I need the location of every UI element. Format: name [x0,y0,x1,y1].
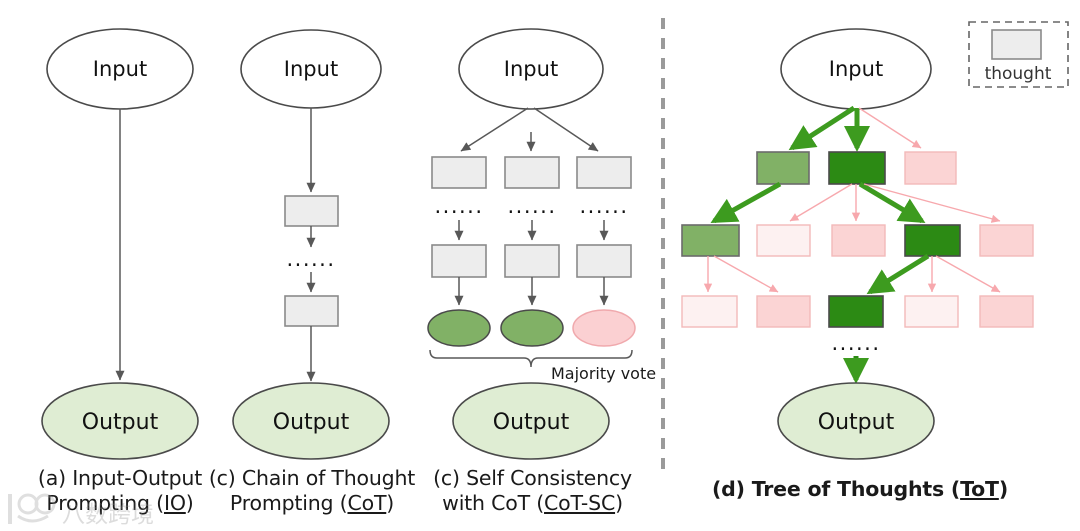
tot-node-l3-4[interactable] [905,296,958,327]
caption-tot-post: ) [999,477,1008,501]
tot-node-l3-3[interactable] [829,296,883,327]
thought-legend: thought [969,22,1068,87]
caption-tot-pre: (d) Tree of Thoughts ( [712,477,960,501]
tot-edge-l2d-l3e [936,256,1000,292]
tot-edge-l1a-l2a [714,184,780,221]
caption-cot-abbr: CoT [347,491,386,515]
tot-output-label: Output [818,410,895,435]
sc-ellipsis-2: ...... [507,194,556,218]
tot-edge-l1b-l2b [790,184,852,221]
legend-thought-label: thought [985,64,1052,84]
caption-tot-line1: (d) Tree of Thoughts (ToT) [700,477,1020,502]
caption-sc-line1: (c) Self Consistency [425,466,640,491]
tot-node-l2-2[interactable] [757,225,810,256]
tot-node-l3-2[interactable] [757,296,810,327]
caption-sc-line2-post: ) [615,491,623,515]
tot-node-l3-1[interactable] [682,296,737,327]
sc-arrow-branch-left [461,108,528,151]
tot-node-l1-1[interactable] [757,152,809,184]
caption-io-line1: (a) Input-Output [20,466,220,491]
sc-output-label: Output [493,410,570,435]
caption-cot-line2-pre: Prompting ( [230,491,348,515]
tot-node-l1-3[interactable] [905,152,956,184]
tot-edge-l2a-l3b [714,256,778,292]
sc-result-node-2[interactable] [501,310,563,346]
cot-thought-box-1[interactable] [285,196,338,226]
io-output-label: Output [82,410,159,435]
caption-io-line2: Prompting (IO) [20,491,220,516]
sc-result-node-3[interactable] [573,310,635,346]
figure-root: Input Output Input ...... Output Input .… [0,0,1080,531]
panel-cot: Input ...... Output [233,30,389,459]
cot-input-label: Input [284,57,338,81]
caption-sc-line2: with CoT (CoT-SC) [425,491,640,516]
diagram-canvas: Input Output Input ...... Output Input .… [0,0,1080,531]
tot-node-l2-5[interactable] [980,225,1033,256]
caption-cot-line2: Prompting (CoT) [208,491,416,516]
caption-cot: (c) Chain of Thought Prompting (CoT) [208,466,416,516]
tot-edge-l1b-l2d [860,184,922,221]
caption-io-line2-post: ) [186,491,194,515]
caption-io-line2-pre: Prompting ( [46,491,164,515]
sc-majority-vote-label: Majority vote [551,364,656,383]
caption-io: (a) Input-Output Prompting (IO) [20,466,220,516]
tot-node-l2-3[interactable] [832,225,885,256]
sc-input-label: Input [504,57,558,81]
legend-thought-swatch [992,30,1041,59]
tot-edge-l2d-l3c [870,256,928,292]
panel-tot: Input ...... [682,29,1033,459]
caption-sc-abbr: CoT-SC [544,491,615,515]
caption-cot-line1: (c) Chain of Thought [208,466,416,491]
tot-node-l3-5[interactable] [980,296,1033,327]
tot-ellipsis: ...... [831,331,880,355]
sc-thought-box-2-1[interactable] [505,157,559,188]
cot-output-label: Output [273,410,350,435]
tot-input-label: Input [829,57,883,81]
sc-ellipsis-3: ...... [579,194,628,218]
tot-edge-root-l1a [792,108,854,148]
panel-cot-sc: Input ...... ...... ...... Majority vote… [428,29,656,459]
tot-edge-root-l1c [859,108,921,148]
tot-edge-l1b-l2e [864,184,1000,221]
sc-thought-box-2-2[interactable] [505,245,559,277]
sc-arrow-branch-right [534,108,598,151]
tot-node-l2-4[interactable] [905,225,960,256]
sc-thought-box-1-1[interactable] [432,157,486,188]
caption-io-abbr: IO [164,491,186,515]
tot-node-l2-1[interactable] [682,225,739,256]
sc-result-node-1[interactable] [428,310,490,346]
caption-cot-sc: (c) Self Consistency with CoT (CoT-SC) [425,466,640,516]
sc-thought-box-1-2[interactable] [432,245,486,277]
caption-sc-line2-pre: with CoT ( [442,491,544,515]
tot-node-l1-2[interactable] [829,152,885,184]
caption-tot-abbr: ToT [960,477,999,501]
io-input-label: Input [93,57,147,81]
caption-tot: (d) Tree of Thoughts (ToT) [700,477,1020,502]
sc-thought-box-3-2[interactable] [577,245,631,277]
cot-ellipsis: ...... [286,247,335,271]
sc-ellipsis-1: ...... [434,194,483,218]
sc-thought-box-3-1[interactable] [577,157,631,188]
caption-cot-line2-post: ) [386,491,394,515]
cot-thought-box-2[interactable] [285,296,338,326]
panel-io: Input Output [42,29,198,459]
